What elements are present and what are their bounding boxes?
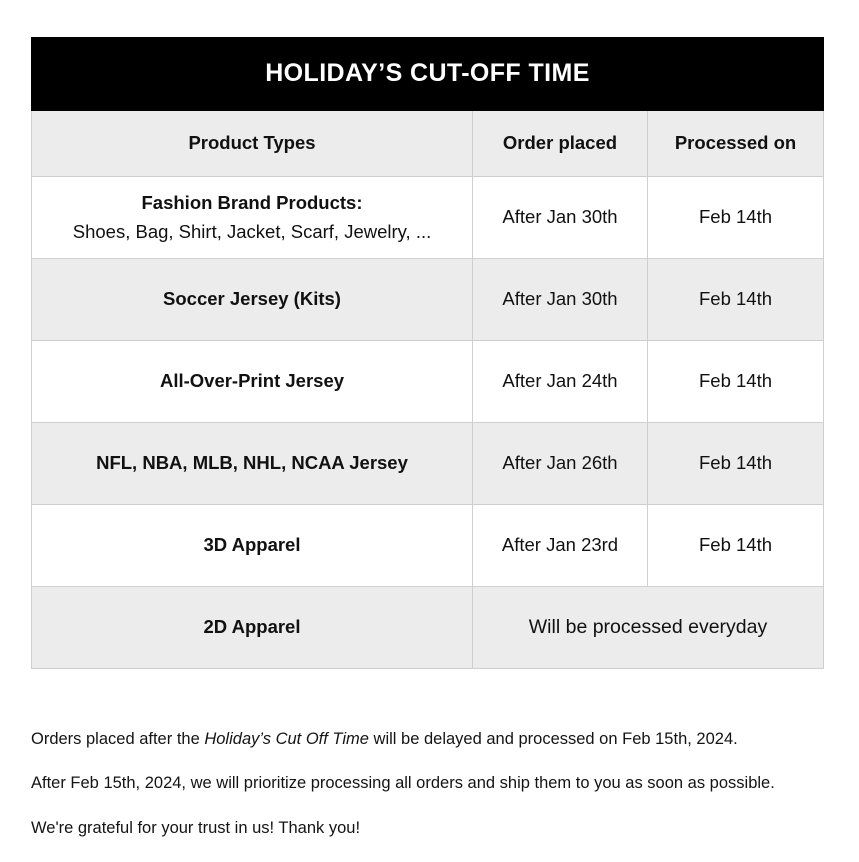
cell-order-placed: After Jan 24th [473, 341, 648, 423]
cell-order-placed: After Jan 30th [473, 177, 648, 259]
column-header-order-placed: Order placed [473, 111, 648, 177]
note-line-1: Orders placed after the Holiday’s Cut Of… [31, 728, 846, 750]
footer-notes: Orders placed after the Holiday’s Cut Of… [31, 728, 846, 839]
product-type-title: 3D Apparel [32, 531, 472, 560]
table-row: NFL, NBA, MLB, NHL, NCAA Jersey After Ja… [32, 423, 824, 505]
processed-on-value: Feb 14th [648, 533, 823, 557]
processed-on-value: Feb 14th [648, 369, 823, 393]
product-type-detail: Shoes, Bag, Shirt, Jacket, Scarf, Jewelr… [32, 218, 472, 247]
order-placed-value: After Jan 26th [473, 451, 647, 475]
cell-product-type: NFL, NBA, MLB, NHL, NCAA Jersey [32, 423, 473, 505]
order-placed-value: After Jan 30th [473, 287, 647, 311]
table-row: Fashion Brand Products: Shoes, Bag, Shir… [32, 177, 824, 259]
cell-processed-on: Feb 14th [648, 259, 824, 341]
page-title: HOLIDAY’S CUT-OFF TIME [32, 60, 823, 88]
order-placed-value: After Jan 24th [473, 369, 647, 393]
processed-on-value: Feb 14th [648, 205, 823, 229]
order-placed-value: After Jan 30th [473, 205, 647, 229]
product-type-title: Fashion Brand Products: [32, 189, 472, 218]
product-type-title: NFL, NBA, MLB, NHL, NCAA Jersey [32, 449, 472, 478]
table-title-cell: HOLIDAY’S CUT-OFF TIME [32, 38, 824, 111]
table-row: Soccer Jersey (Kits) After Jan 30th Feb … [32, 259, 824, 341]
product-type-title: All-Over-Print Jersey [32, 367, 472, 396]
column-header-order-placed-label: Order placed [473, 132, 647, 154]
note-line-1-part1: Orders placed after the [31, 730, 204, 748]
cell-product-type: Soccer Jersey (Kits) [32, 259, 473, 341]
cell-processed-on: Feb 14th [648, 177, 824, 259]
product-type-title: 2D Apparel [32, 613, 472, 642]
cell-product-type: Fashion Brand Products: Shoes, Bag, Shir… [32, 177, 473, 259]
order-placed-value: After Jan 23rd [473, 533, 647, 557]
note-line-3: We're grateful for your trust in us! Tha… [31, 817, 846, 839]
cell-merged-note: Will be processed everyday [473, 587, 824, 669]
note-line-1-emphasis: Holiday’s Cut Off Time [204, 730, 369, 748]
cell-product-type: All-Over-Print Jersey [32, 341, 473, 423]
processed-on-value: Feb 14th [648, 451, 823, 475]
processed-on-value: Feb 14th [648, 287, 823, 311]
table-row: 3D Apparel After Jan 23rd Feb 14th [32, 505, 824, 587]
cell-processed-on: Feb 14th [648, 341, 824, 423]
column-header-row: Product Types Order placed Processed on [32, 111, 824, 177]
cell-order-placed: After Jan 26th [473, 423, 648, 505]
note-line-2: After Feb 15th, 2024, we will prioritize… [31, 772, 846, 794]
column-header-product-types-label: Product Types [32, 132, 472, 154]
cell-processed-on: Feb 14th [648, 423, 824, 505]
holiday-cutoff-table: HOLIDAY’S CUT-OFF TIME Product Types Ord… [31, 37, 824, 669]
table-row: 2D Apparel Will be processed everyday [32, 587, 824, 669]
cutoff-time-infographic: HOLIDAY’S CUT-OFF TIME Product Types Ord… [0, 0, 859, 862]
merged-note-value: Will be processed everyday [473, 615, 823, 640]
table-row: All-Over-Print Jersey After Jan 24th Feb… [32, 341, 824, 423]
cell-product-type: 3D Apparel [32, 505, 473, 587]
column-header-processed-on-label: Processed on [648, 132, 823, 154]
column-header-processed-on: Processed on [648, 111, 824, 177]
note-line-1-part2: will be delayed and processed on Feb 15t… [369, 730, 738, 748]
column-header-product-types: Product Types [32, 111, 473, 177]
cell-product-type: 2D Apparel [32, 587, 473, 669]
cell-order-placed: After Jan 23rd [473, 505, 648, 587]
product-type-title: Soccer Jersey (Kits) [32, 285, 472, 314]
table-title-row: HOLIDAY’S CUT-OFF TIME [32, 38, 824, 111]
cell-processed-on: Feb 14th [648, 505, 824, 587]
cell-order-placed: After Jan 30th [473, 259, 648, 341]
